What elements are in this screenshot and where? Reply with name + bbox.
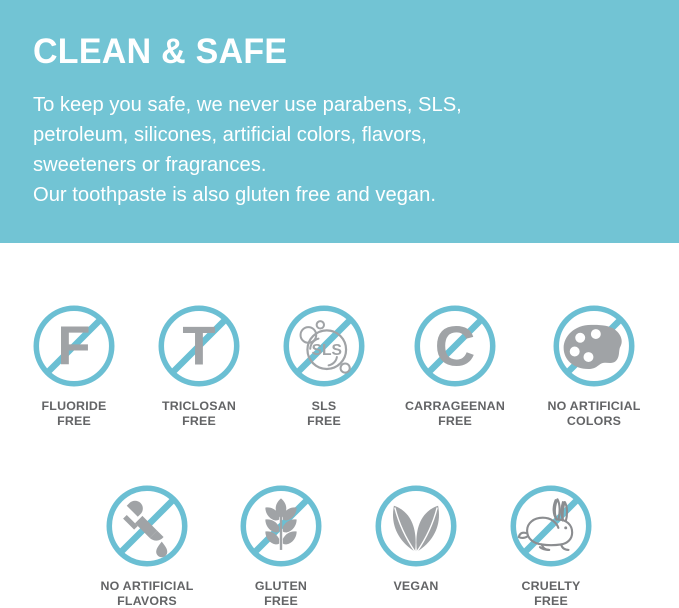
palette-shape (564, 325, 622, 369)
badge-no-artificial-flavors: NO ARTIFICIAL FLAVORS (82, 480, 212, 608)
badge-caption: FLUORIDE FREE (9, 399, 139, 428)
badge-caption: NO ARTIFICIAL COLORS (529, 399, 659, 428)
caption-line-2: FREE (390, 414, 520, 429)
badge-triclosan-free: T TRICLOSAN FREE (134, 300, 264, 428)
badge-no-artificial-colors: NO ARTIFICIAL COLORS (529, 300, 659, 428)
cruelty-free-icon (505, 480, 597, 572)
rabbit-shape (519, 499, 572, 550)
svg-text:F: F (57, 316, 90, 377)
no-artificial-colors-icon (548, 300, 640, 392)
caption-line-1: FLUORIDE (9, 399, 139, 414)
svg-text:SLS: SLS (312, 342, 342, 359)
caption-line-1: NO ARTIFICIAL (529, 399, 659, 414)
caption-line-1: CARRAGEENAN (390, 399, 520, 414)
badge-fluoride-free: F FLUORIDE FREE (9, 300, 139, 428)
caption-line-1: TRICLOSAN (134, 399, 264, 414)
badge-caption: NO ARTIFICIAL FLAVORS (82, 579, 212, 608)
clean-and-safe-infographic: CLEAN & SAFE To keep you safe, we never … (0, 0, 679, 608)
caption-line-1: GLUTEN (216, 579, 346, 594)
caption-line-2: FREE (486, 594, 616, 608)
page-title: CLEAN & SAFE (33, 34, 631, 69)
badge-cruelty-free: CRUELTY FREE (486, 480, 616, 608)
no-triclosan-icon: T (153, 300, 245, 392)
no-gluten-icon (235, 480, 327, 572)
caption-line-2: FREE (259, 414, 389, 429)
no-fluoride-icon: F (28, 300, 120, 392)
banner-paragraph: To keep you safe, we never use parabens,… (33, 90, 640, 210)
banner-line-4: Our toothpaste is also gluten free and v… (33, 180, 640, 210)
badge-caption: TRICLOSAN FREE (134, 399, 264, 428)
caption-line-1: NO ARTIFICIAL (82, 579, 212, 594)
badge-caption: CARRAGEENAN FREE (390, 399, 520, 428)
no-carrageenan-icon: C (409, 300, 501, 392)
caption-line-2: COLORS (529, 414, 659, 429)
badge-grid: F FLUORIDE FREE T TRICLOSAN FREE (0, 243, 679, 608)
no-artificial-flavors-icon (101, 480, 193, 572)
badge-caption: SLS FREE (259, 399, 389, 428)
caption-line-2: FLAVORS (82, 594, 212, 608)
badge-vegan: VEGAN (351, 480, 481, 594)
vegan-icon (370, 480, 462, 572)
caption-line-2: FREE (216, 594, 346, 608)
caption-line-1: SLS (259, 399, 389, 414)
svg-text:C: C (435, 315, 476, 378)
caption-line-1: VEGAN (351, 579, 481, 594)
badge-caption: GLUTEN FREE (216, 579, 346, 608)
badge-caption: CRUELTY FREE (486, 579, 616, 608)
caption-line-1: CRUELTY (486, 579, 616, 594)
badge-carrageenan-free: C CARRAGEENAN FREE (390, 300, 520, 428)
svg-text:T: T (182, 316, 215, 377)
badge-gluten-free: GLUTEN FREE (216, 480, 346, 608)
badge-caption: VEGAN (351, 579, 481, 594)
banner-line-1: To keep you safe, we never use parabens,… (33, 90, 640, 120)
banner: CLEAN & SAFE To keep you safe, we never … (0, 0, 679, 243)
caption-line-2: FREE (134, 414, 264, 429)
caption-line-2: FREE (9, 414, 139, 429)
banner-line-3: sweeteners or fragrances. (33, 150, 640, 180)
no-sls-icon: SLS (278, 300, 370, 392)
banner-line-2: petroleum, silicones, artificial colors,… (33, 120, 640, 150)
leaves-shape (393, 506, 439, 552)
badge-sls-free: SLS SLS FREE (259, 300, 389, 428)
wheat-shape (265, 498, 296, 550)
